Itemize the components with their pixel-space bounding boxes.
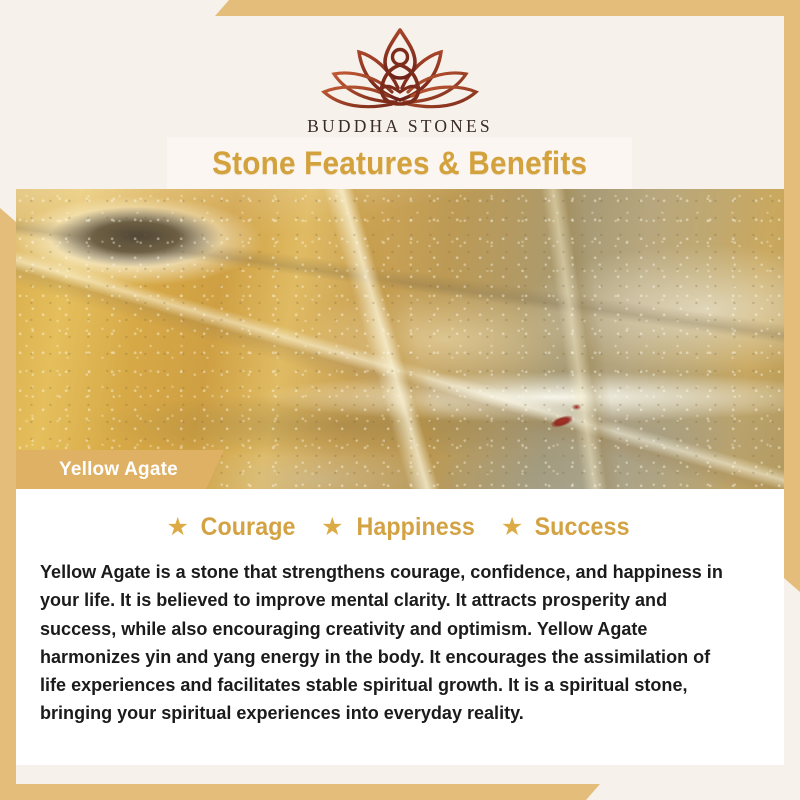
content-panel: ★ Courage ★ Happiness ★ Success Yellow A… [16, 489, 784, 765]
star-icon: ★ [321, 515, 343, 540]
keyword-list: ★ Courage ★ Happiness ★ Success [16, 513, 784, 542]
stone-image [16, 189, 784, 489]
star-icon: ★ [167, 515, 189, 540]
brand-name: BUDDHA STONES [280, 116, 520, 137]
gold-frame-top [215, 0, 800, 16]
poster-root: BUDDHA STONES Stone Features & Benefits … [0, 0, 800, 800]
stone-caption-label: Yellow Agate [59, 459, 178, 481]
header: BUDDHA STONES [0, 0, 800, 148]
gold-frame-right [784, 0, 800, 592]
title-banner: Stone Features & Benefits [167, 137, 632, 189]
description-text: Yellow Agate is a stone that strengthens… [40, 558, 738, 728]
page-title: Stone Features & Benefits [212, 145, 587, 182]
keyword-label: Courage [201, 513, 296, 542]
stone-speckle-layer [16, 189, 784, 489]
star-icon: ★ [501, 515, 523, 540]
keyword-item-success: ★ Success [501, 513, 634, 542]
stone-caption-band: Yellow Agate [16, 450, 224, 489]
brand-logo: BUDDHA STONES [280, 22, 520, 137]
gold-frame-left [0, 208, 16, 800]
stone-red-inclusion-small [572, 404, 581, 410]
gold-frame-bottom [0, 784, 600, 800]
lotus-meditation-figure-icon [312, 22, 488, 114]
keyword-label: Success [535, 513, 630, 542]
keyword-item-happiness: ★ Happiness [321, 513, 479, 542]
keyword-label: Happiness [356, 513, 474, 542]
keyword-item-courage: ★ Courage [167, 513, 300, 542]
